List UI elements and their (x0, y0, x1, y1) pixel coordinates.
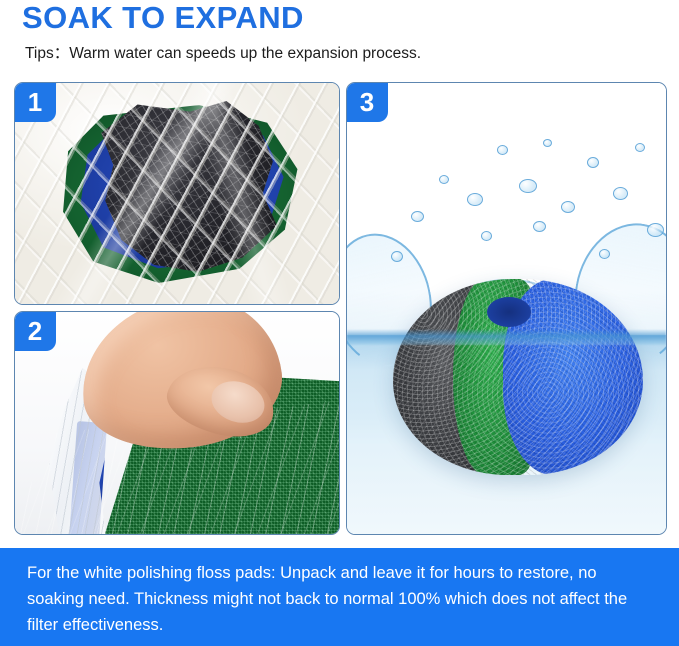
pad-center-hole (487, 297, 531, 327)
step-panel-1: 1 (14, 82, 340, 305)
water-droplet (439, 175, 449, 184)
tips-text: Warm water can speeds up the expansion p… (69, 45, 421, 62)
panel-3-image (347, 83, 666, 534)
water-droplet (613, 187, 628, 200)
water-droplet (599, 249, 610, 259)
step-panel-2: 2 (14, 311, 340, 535)
bottom-note-text: For the white polishing floss pads: Unpa… (27, 560, 655, 638)
water-droplet (497, 145, 508, 155)
water-droplet (543, 139, 552, 147)
water-droplet (533, 221, 546, 232)
panel-2-image (15, 312, 339, 534)
water-droplet (561, 201, 575, 213)
panel-1-image (15, 83, 339, 304)
water-droplet (391, 251, 403, 262)
page-title: SOAK TO EXPAND (22, 0, 304, 36)
step-badge-3: 3 (346, 82, 388, 122)
plastic-sheen (15, 83, 339, 304)
water-droplet (635, 143, 645, 152)
water-droplet (519, 179, 537, 193)
bottom-note-banner: For the white polishing floss pads: Unpa… (0, 548, 679, 646)
step-badge-2: 2 (14, 311, 56, 351)
water-surface-line (347, 329, 666, 345)
water-droplet (467, 193, 483, 206)
water-droplet (481, 231, 492, 241)
water-droplet (411, 211, 424, 222)
tips-label: Tips： (25, 45, 69, 62)
tips-line: Tips：Warm water can speeds up the expans… (25, 44, 421, 64)
step-badge-1: 1 (14, 82, 56, 122)
step-panel-3: 3 (346, 82, 667, 535)
water-droplet (587, 157, 599, 168)
infographic-page: SOAK TO EXPAND Tips：Warm water can speed… (0, 0, 679, 646)
water-droplet (647, 223, 664, 237)
